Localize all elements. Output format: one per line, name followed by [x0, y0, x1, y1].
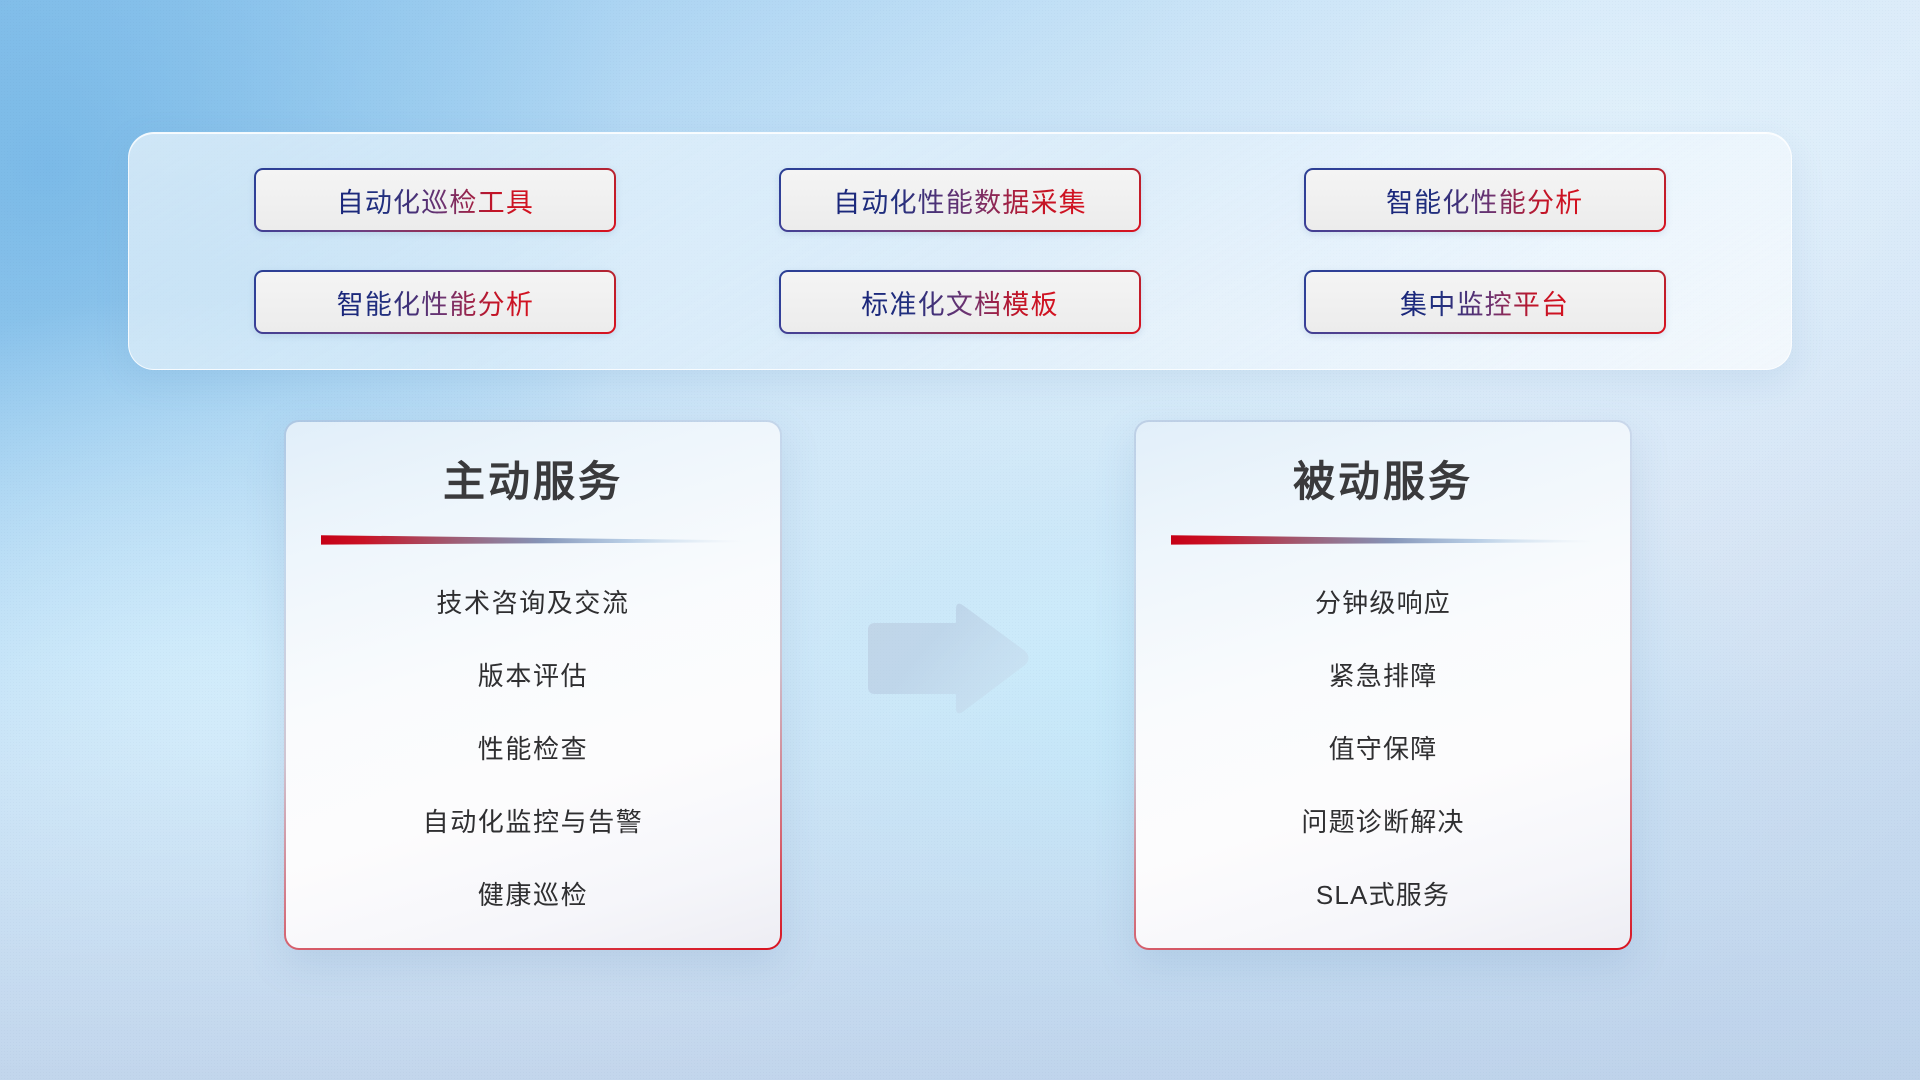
service-card-title: 主动服务 [443, 456, 623, 509]
service-card-surface: 被动服务 分钟级响应 紧急排障 [1136, 422, 1630, 948]
capability-tag-standardized-document-template[interactable]: 标准化文档模板 [779, 270, 1141, 334]
title-divider [1171, 531, 1595, 547]
service-card-reactive[interactable]: 被动服务 分钟级响应 紧急排障 [1134, 420, 1632, 950]
capability-tag-label: 自动化巡检工具 [337, 181, 534, 220]
service-card-item-list: 技术咨询及交流 版本评估 性能检查 自动化监控与告警 健康巡检 [320, 567, 746, 932]
capability-tag-label: 标准化文档模板 [861, 283, 1058, 322]
service-item: 自动化监控与告警 [423, 786, 644, 859]
tag-surface: 标准化文档模板 [781, 272, 1139, 332]
service-item: 分钟级响应 [1315, 567, 1451, 640]
tag-surface: 自动化性能数据采集 [781, 170, 1139, 230]
service-item: 性能检查 [478, 713, 588, 786]
service-item: 技术咨询及交流 [436, 567, 629, 640]
capability-tag-label: 智能化性能分析 [1386, 181, 1583, 220]
service-item: 问题诊断解决 [1301, 786, 1464, 859]
service-card-proactive[interactable]: 主动服务 技术咨询及交流 版本评估 [284, 420, 782, 950]
service-card-surface: 主动服务 技术咨询及交流 版本评估 [286, 422, 780, 948]
arrow-right-icon [862, 600, 1032, 720]
capability-panel: 自动化巡检工具 自动化性能数据采集 智能化性能分析 智能化性能分析 标准化文档模… [128, 132, 1792, 370]
service-item: 值守保障 [1329, 713, 1438, 786]
service-item: 版本评估 [478, 640, 588, 713]
title-divider [321, 531, 745, 547]
tag-surface: 自动化巡检工具 [256, 170, 614, 230]
service-item: 紧急排障 [1329, 640, 1438, 713]
service-card-item-list: 分钟级响应 紧急排障 值守保障 问题诊断解决 SLA式服务 [1170, 567, 1596, 932]
tag-surface: 集中监控平台 [1306, 272, 1664, 332]
capability-tag-intelligent-performance-analysis[interactable]: 智能化性能分析 [1304, 168, 1666, 232]
tag-surface: 智能化性能分析 [256, 272, 614, 332]
service-item: 健康巡检 [478, 859, 588, 932]
tag-surface: 智能化性能分析 [1306, 170, 1664, 230]
capability-tag-grid: 自动化巡检工具 自动化性能数据采集 智能化性能分析 智能化性能分析 标准化文档模… [129, 133, 1791, 369]
capability-tag-label: 集中监控平台 [1400, 283, 1569, 322]
capability-tag-label: 智能化性能分析 [337, 283, 534, 322]
capability-tag-intelligent-performance-analysis-2[interactable]: 智能化性能分析 [254, 270, 616, 334]
service-card-title: 被动服务 [1293, 456, 1473, 509]
service-item: SLA式服务 [1316, 859, 1450, 932]
capability-tag-automated-inspection-tool[interactable]: 自动化巡检工具 [254, 168, 616, 232]
capability-tag-centralized-monitoring-platform[interactable]: 集中监控平台 [1304, 270, 1666, 334]
capability-tag-label: 自动化性能数据采集 [833, 181, 1087, 220]
capability-tag-automated-performance-data-collection[interactable]: 自动化性能数据采集 [779, 168, 1141, 232]
